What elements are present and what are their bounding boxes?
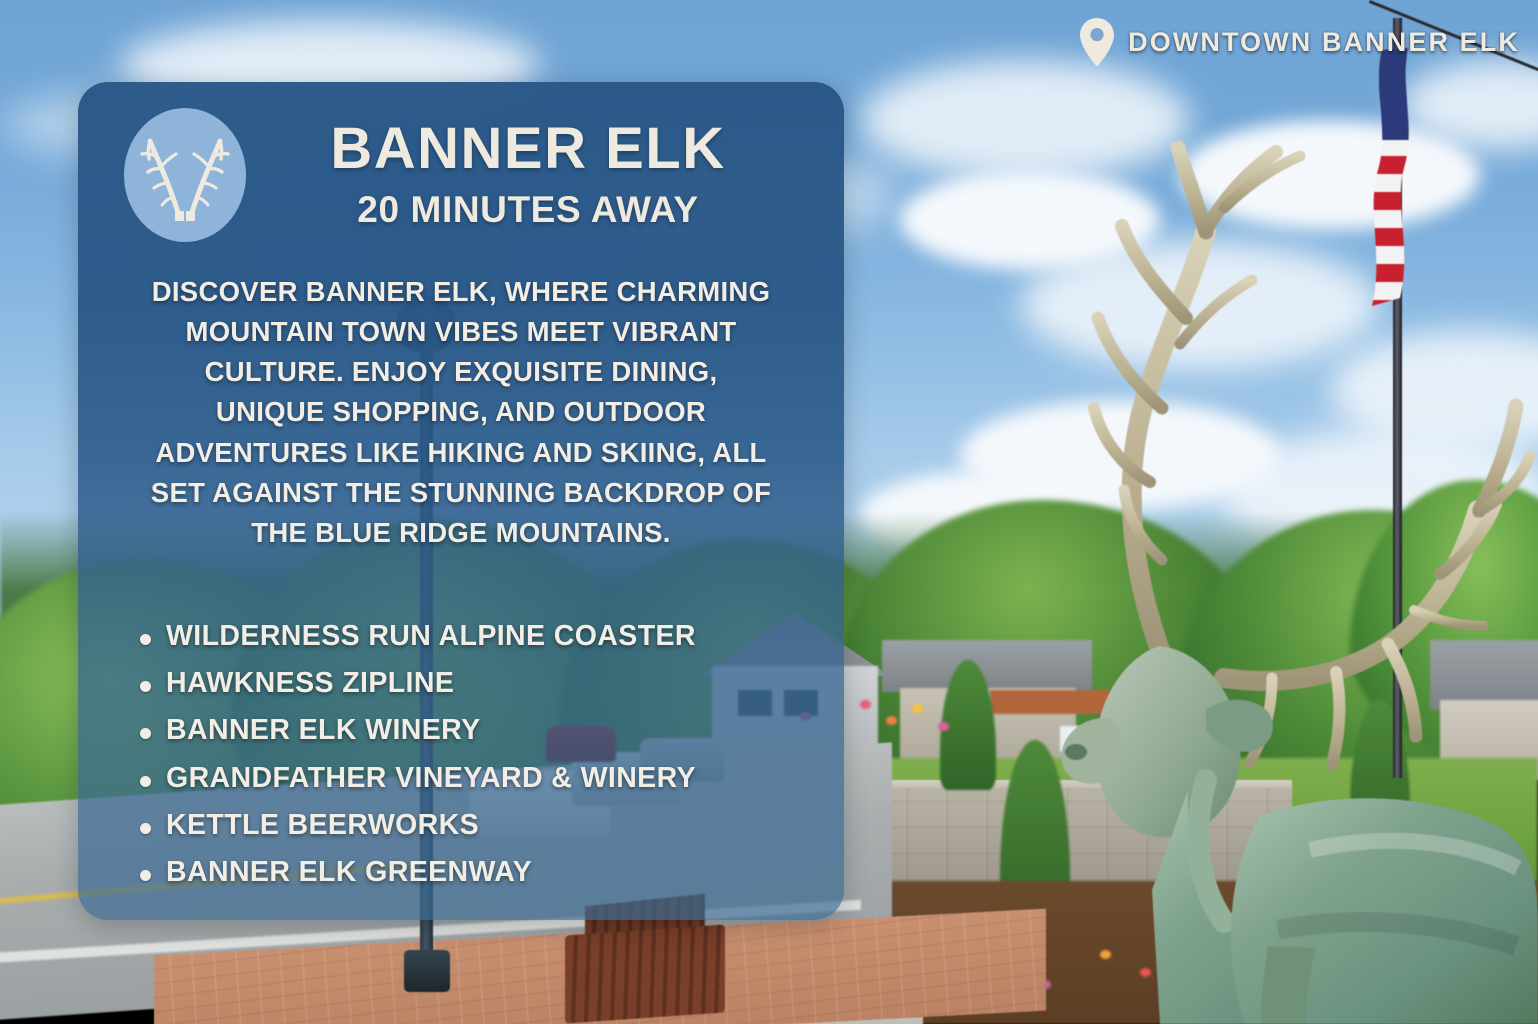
elk-antlers-logo [124, 108, 246, 242]
flower [860, 700, 871, 709]
location-badge-label: DOWNTOWN BANNER ELK [1128, 27, 1520, 58]
list-item: WILDERNESS RUN ALPINE COASTER [126, 615, 814, 657]
card-title-block: BANNER ELK 20 MINUTES AWAY [276, 119, 814, 230]
flower [886, 716, 897, 725]
flower [938, 722, 949, 731]
list-item: BANNER ELK GREENWAY [126, 851, 814, 893]
flower [912, 704, 923, 713]
list-item: GRANDFATHER VINEYARD & WINERY [126, 757, 814, 799]
elk-statue [1010, 90, 1538, 1024]
elk-antlers-icon [133, 123, 237, 227]
list-item: KETTLE BEERWORKS [126, 804, 814, 846]
page-title: BANNER ELK [276, 119, 780, 178]
street-lamp-base [404, 950, 450, 992]
location-badge: DOWNTOWN BANNER ELK [1080, 18, 1520, 66]
bench [565, 924, 725, 1023]
card-description: DISCOVER BANNER ELK, WHERE CHARMING MOUN… [150, 272, 772, 553]
list-item: HAWKNESS ZIPLINE [126, 662, 814, 704]
list-item: BANNER ELK WINERY [126, 709, 814, 751]
banner-elk-info-card: BANNER ELK 20 MINUTES AWAY DISCOVER BANN… [78, 82, 844, 920]
map-pin-icon [1080, 18, 1114, 66]
card-subtitle: 20 MINUTES AWAY [276, 189, 780, 231]
card-header: BANNER ELK 20 MINUTES AWAY [108, 108, 814, 242]
poster-canvas: DOWNTOWN BANNER ELK [0, 0, 1538, 1024]
attractions-list: WILDERNESS RUN ALPINE COASTER HAWKNESS Z… [126, 615, 814, 893]
